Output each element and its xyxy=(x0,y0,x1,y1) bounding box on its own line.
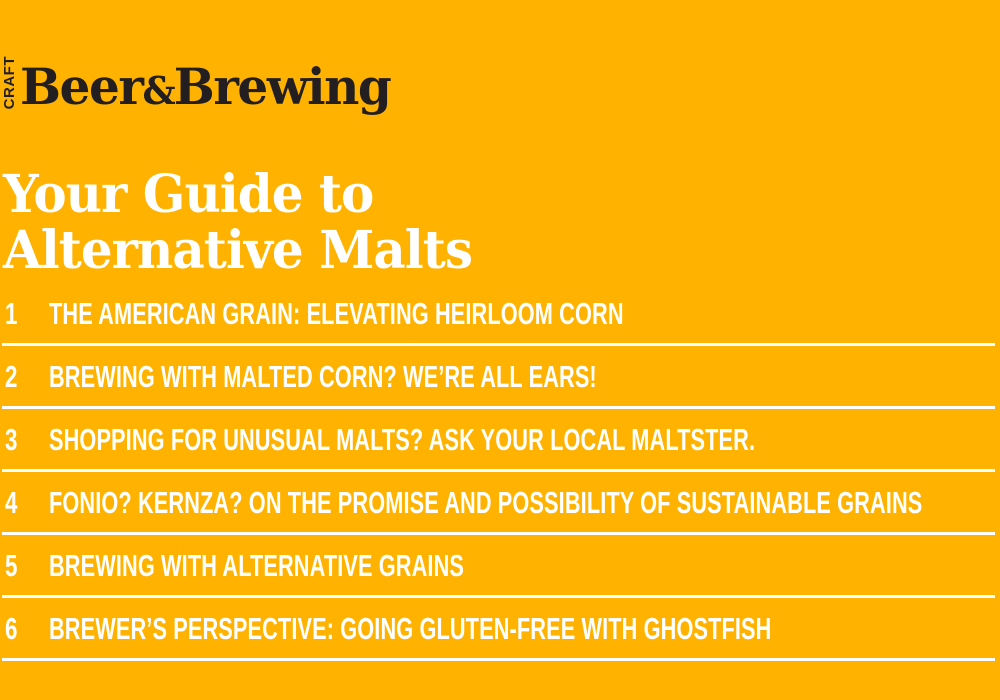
list-item-title: Shopping for Unusual Malts? Ask Your Loc… xyxy=(49,424,755,455)
list-item[interactable]: 4 Fonio? Kernza? On the Promise and Poss… xyxy=(0,472,1000,535)
table-of-contents: 1 The American Grain: Elevating Heirloom… xyxy=(0,283,1000,661)
brand-masthead: CRAFT Beer&Brewing xyxy=(2,58,402,110)
page-title-line-1: Your Guide to xyxy=(3,167,925,223)
list-item[interactable]: 2 Brewing with Malted Corn? We’re All Ea… xyxy=(0,346,1000,409)
cover-page: CRAFT Beer&Brewing Your Guide to Alterna… xyxy=(0,0,1000,700)
list-item-number: 6 xyxy=(5,613,38,644)
list-item-number: 3 xyxy=(5,424,38,455)
list-item[interactable]: 6 Brewer’s Perspective: Going Gluten-Fre… xyxy=(0,598,1000,661)
list-item[interactable]: 5 Brewing with Alternative Grains xyxy=(0,535,1000,598)
list-item-number: 1 xyxy=(5,298,38,329)
masthead-wordmark: Beer&Brewing xyxy=(20,64,390,110)
wordmark-beer: Beer xyxy=(20,57,142,116)
list-item-title: Brewing with Alternative Grains xyxy=(49,550,715,581)
list-item-divider xyxy=(2,658,995,661)
list-item-title: Brewing with Malted Corn? We’re All Ears… xyxy=(49,361,715,392)
list-item-title: The American Grain: Elevating Heirloom C… xyxy=(49,298,715,329)
list-item-number: 2 xyxy=(5,361,38,392)
list-item-title: Brewer’s Perspective: Going Gluten-Free … xyxy=(49,613,771,644)
list-item-number: 5 xyxy=(5,550,38,581)
wordmark-ampersand: & xyxy=(142,68,173,113)
page-title: Your Guide to Alternative Malts xyxy=(3,167,925,279)
wordmark-brewing: Brewing xyxy=(174,57,391,116)
page-title-line-2: Alternative Malts xyxy=(3,223,925,279)
list-item-number: 4 xyxy=(5,487,38,518)
masthead-kicker-craft: CRAFT xyxy=(2,56,17,109)
list-item-title: Fonio? Kernza? On the Promise and Possib… xyxy=(49,487,922,518)
list-item[interactable]: 3 Shopping for Unusual Malts? Ask Your L… xyxy=(0,409,1000,472)
list-item[interactable]: 1 The American Grain: Elevating Heirloom… xyxy=(0,283,1000,346)
